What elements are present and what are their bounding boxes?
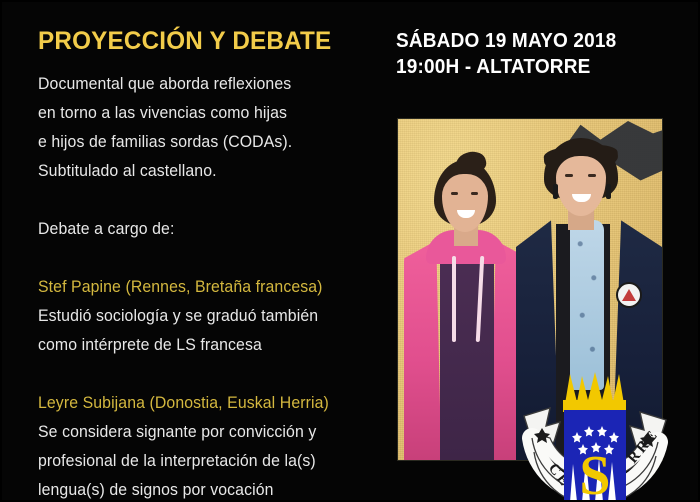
jacket-badge-icon	[616, 282, 642, 308]
earring-right	[606, 184, 611, 199]
hoodie-cord-left	[452, 256, 456, 342]
debate-intro: Debate a cargo de:	[38, 215, 364, 244]
speaker-bio-line: como intérprete de LS francesa	[38, 331, 364, 360]
crest-crown-icon	[563, 372, 626, 412]
spacer	[38, 360, 378, 389]
face	[556, 156, 606, 216]
crest-monogram: S	[579, 445, 610, 502]
spacer	[38, 186, 378, 215]
event-time-venue: 19:00H - ALTATORRE	[396, 54, 681, 80]
speaker-name-1: Stef Papine (Rennes, Bretaña francesa)	[38, 273, 364, 302]
frame-edge-top	[0, 0, 700, 2]
text-column: PROYECCIÓN Y DEBATE Documental que abord…	[38, 28, 378, 502]
purple-shirt	[440, 240, 494, 460]
event-date: SÁBADO 19 MAYO 2018	[396, 28, 681, 54]
description-line: e hijos de familias sordas (CODAs).	[38, 128, 364, 157]
speaker-bio-line: Estudió sociología y se graduó también	[38, 302, 364, 331]
event-header: SÁBADO 19 MAYO 2018 19:00H - ALTATORRE	[396, 28, 696, 80]
speaker-bio-line: lengua(s) de signos por vocación	[38, 476, 364, 502]
photo-person-left	[404, 160, 528, 460]
organization-crest: CENT RRE	[520, 372, 670, 502]
description-line: Subtitulado al castellano.	[38, 157, 364, 186]
eye-right	[471, 192, 478, 195]
eye-right	[588, 174, 596, 177]
earring-left	[553, 184, 558, 199]
page-title: PROYECCIÓN Y DEBATE	[38, 28, 368, 56]
speaker-bio-line: Se considera signante por convicción y	[38, 418, 364, 447]
description-line: en torno a las vivencias como hijas	[38, 99, 364, 128]
eye-left	[451, 192, 458, 195]
spacer	[38, 244, 378, 273]
light-scarf	[570, 220, 604, 390]
crest-shield: S	[564, 410, 626, 502]
frame-edge-left	[0, 0, 2, 502]
speaker-name-2: Leyre Subijana (Donostia, Euskal Herria)	[38, 389, 364, 418]
description-line: Documental que aborda reflexiones	[38, 70, 364, 99]
poster-canvas: SÁBADO 19 MAYO 2018 19:00H - ALTATORRE P…	[0, 0, 700, 502]
eye-left	[565, 174, 573, 177]
speaker-bio-line: profesional de la interpretación de la(s…	[38, 447, 364, 476]
